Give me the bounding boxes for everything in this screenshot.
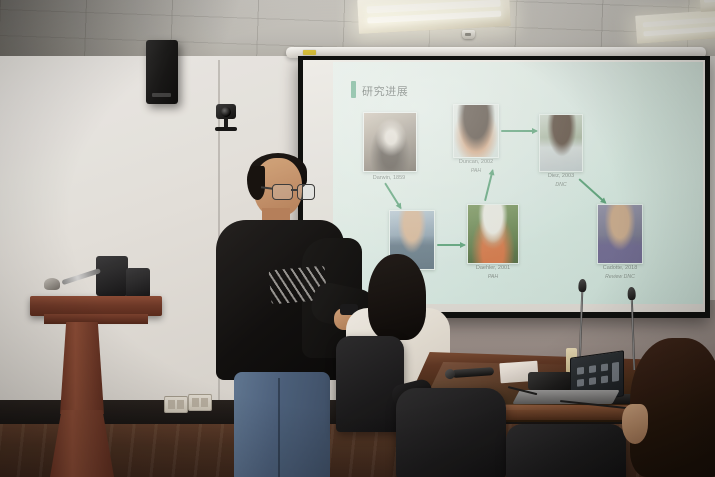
slide-photo-daehler [467, 204, 519, 264]
glasses-icon [272, 184, 318, 200]
microphone-capsule-1 [578, 279, 586, 292]
ceiling-light-3 [699, 0, 715, 12]
slide-caption-cadotte-name: Cadotte, 2018 [603, 265, 638, 271]
slide-caption-darwin-name: Darwin, 1859 [373, 175, 405, 181]
chair-3 [506, 424, 626, 477]
ceiling-camera-icon [212, 104, 240, 132]
slide-caption-duncan-name: Duncan, 2002 [459, 159, 493, 165]
slide-title-accent-bar [351, 81, 356, 98]
smoke-detector-icon [462, 30, 475, 39]
slide-arrow-darwin-to-1996 [384, 182, 402, 209]
podium-mic-head [44, 278, 60, 290]
slide-title: 研究进展 [362, 83, 408, 99]
slide-photo-duncan [453, 104, 499, 158]
presentation-room-photo: 研究进展 Darwin, 1859 Duncan, 2002 PAH Diez,… [0, 0, 715, 477]
audience-foreground-face [622, 404, 648, 444]
podium-equipment-dark [126, 268, 150, 298]
slide-caption-cadotte: Cadotte, 2018 Review DNC [577, 264, 663, 281]
slide-caption-cadotte-note: Review DNC [577, 273, 663, 281]
wall-speaker [146, 40, 178, 104]
audience-hair [368, 254, 426, 340]
microphone-capsule-2 [627, 287, 635, 300]
chair-2 [396, 388, 506, 477]
slide-arrow-duncan-to-diez [501, 130, 537, 132]
slide-photo-cadotte [597, 204, 643, 264]
yellow-tag [303, 50, 316, 55]
podium-equipment-box [96, 256, 128, 296]
slide-arrow-1996-to-daehler [437, 244, 465, 246]
slide-caption-duncan: Duncan, 2002 PAH [433, 158, 519, 175]
cable-tangle [528, 372, 572, 390]
slide-caption-diez-name: Diez, 2003 [548, 173, 574, 179]
presenter-hair-side [247, 166, 265, 200]
wall-outlet-1 [164, 396, 188, 413]
chair-1 [336, 336, 404, 432]
podium-top [30, 296, 162, 316]
wall-outlet-2 [188, 394, 212, 411]
podium-column [60, 322, 104, 414]
slide-photo-diez [539, 114, 583, 172]
audience-foreground [614, 338, 715, 477]
presenter-jeans [234, 372, 330, 477]
slide-caption-daehler-name: Daehler, 2001 [476, 265, 510, 271]
slide-caption-duncan-note: PAH [433, 167, 519, 175]
